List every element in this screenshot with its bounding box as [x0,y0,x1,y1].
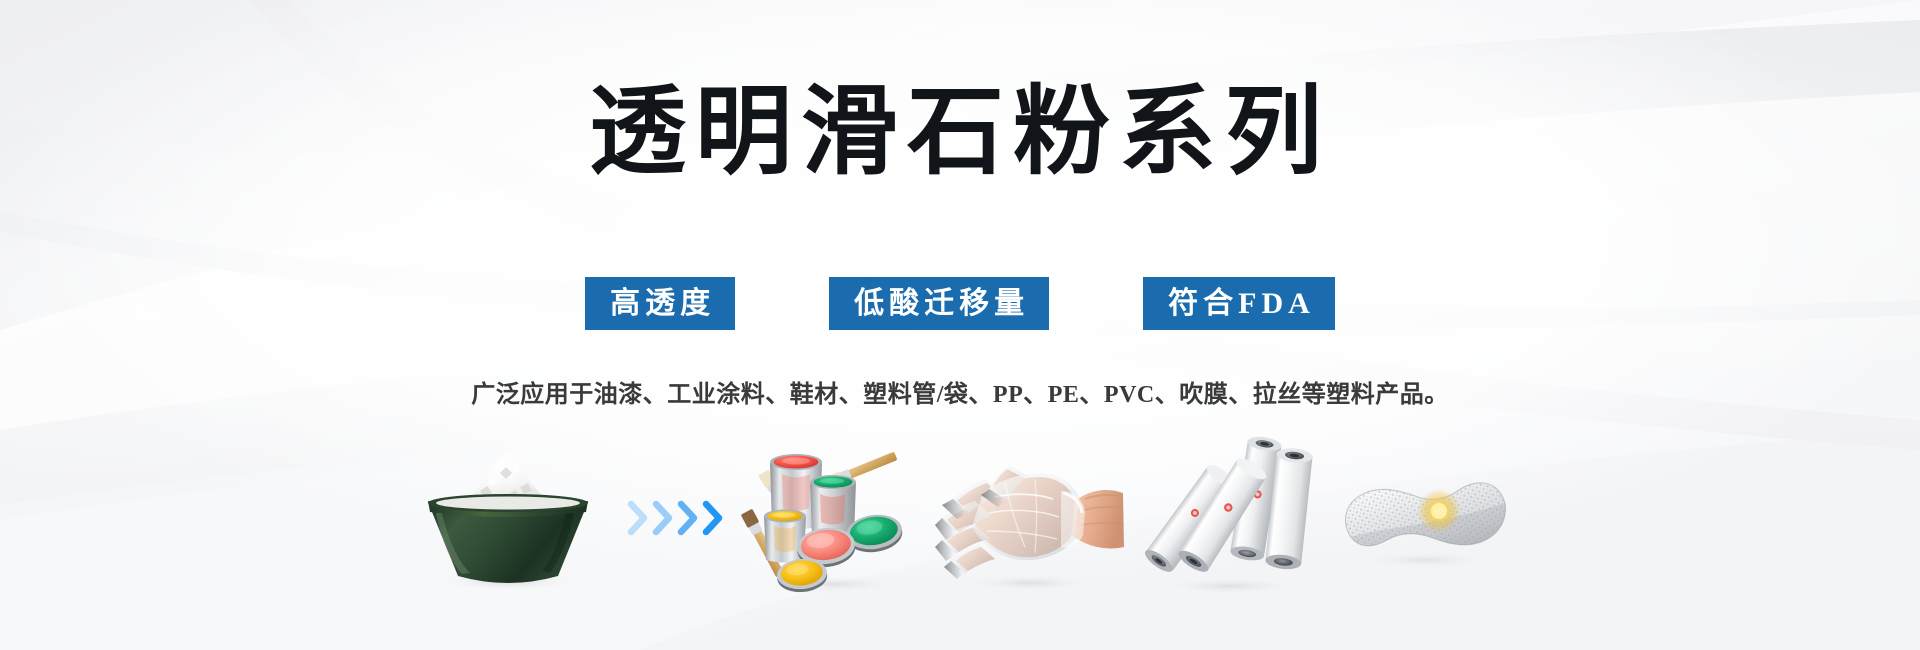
feature-badge-low-acid-migration[interactable]: 低酸迁移量 [829,277,1049,330]
plastic-film-rolls-image [1130,438,1325,598]
chevron-right-icon [677,501,699,535]
chevron-right-icon [652,501,674,535]
application-image-strip [0,425,1920,610]
pe-glove-hand-image [930,438,1130,598]
product-banner: 透明滑石粉系列 高透度 低酸迁移量 符合FDA 广泛应用于油漆、工业涂料、鞋材、… [0,0,1920,650]
shoe-sole-image [1325,438,1520,598]
chevron-right-icon [627,501,649,535]
talc-powder-bowl-image [400,438,615,598]
banner-subtitle: 广泛应用于油漆、工业涂料、鞋材、塑料管/袋、PP、PE、PVC、吹膜、拉丝等塑料… [0,374,1920,409]
chevron-right-icon [702,501,724,535]
paint-cans-image [735,438,930,598]
feature-badge-fda-compliant[interactable]: 符合FDA [1143,277,1335,330]
feature-badge-list: 高透度 低酸迁移量 符合FDA [0,277,1920,330]
feature-badge-high-transparency[interactable]: 高透度 [585,277,735,330]
process-arrows [615,438,735,598]
banner-title: 透明滑石粉系列 [0,82,1920,184]
